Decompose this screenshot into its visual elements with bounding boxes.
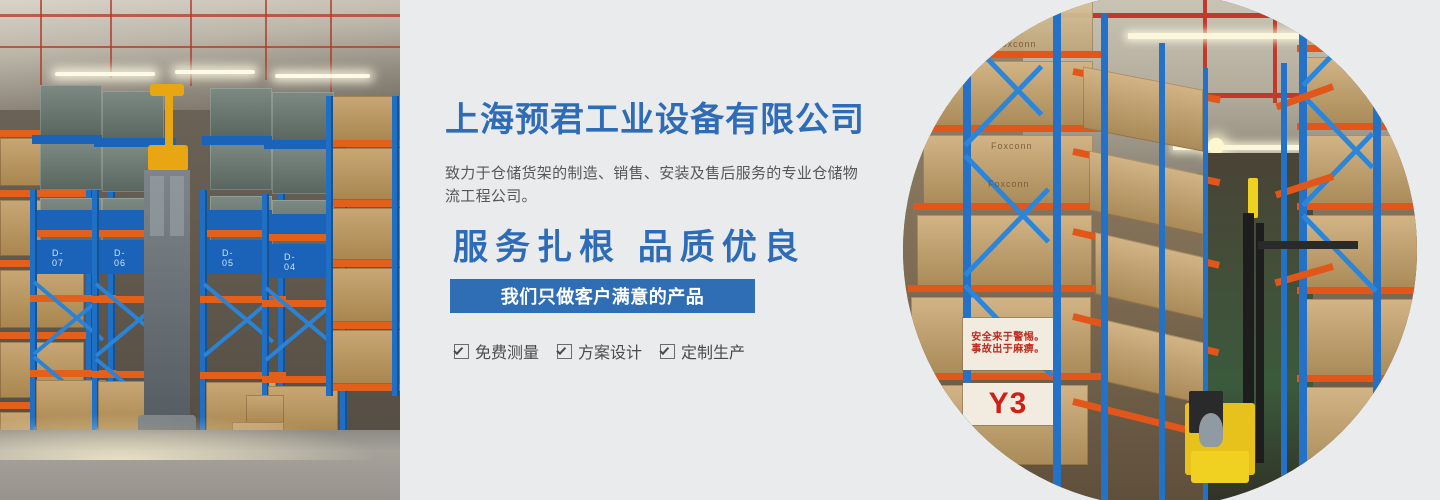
hero-slogan: 服务扎根 品质优良 [453,228,806,268]
forklift-operator [1199,413,1223,447]
feature-label: 定制生产 [681,339,745,363]
carton-brand-text: Foxconn [991,141,1033,151]
feature-item-custom-production: 定制生产 [660,339,745,363]
rack-label: D-04 [284,252,296,272]
safety-sign-line1: 安全来于警惕。 [971,333,1045,343]
check-box-icon [557,344,572,359]
forklift-mast-top [1248,178,1258,218]
vna-carriage [148,145,188,171]
check-box-icon [660,344,675,359]
ceiling-light [275,74,370,78]
carton-brand-text: Foxconn [998,11,1040,21]
ceiling-hanger [330,0,332,92]
ceiling-hanger [40,0,42,90]
company-subtitle: 致力于仓储货架的制造、销售、安装及售后服务的专业仓储物流工程公司。 [445,162,863,208]
left-warehouse-photo: D-07 D-06 [0,0,400,500]
ceiling-hanger [110,0,112,78]
vna-mast-arm [165,92,173,152]
rack-label: D-07 [52,248,64,268]
right-photo-inner: Foxconn Foxconn Foxconn Foxconn [903,0,1440,500]
ceiling-light [1128,33,1308,39]
company-title: 上海预君工业设备有限公司 [445,103,865,137]
aisle-sign-y3-right: Y3 [1388,383,1440,423]
safety-sign-line2: 事故出于麻痹。 [971,345,1045,355]
sprinkler-drop [1273,0,1277,103]
feature-label: 免费测量 [475,339,539,363]
forklift-arm [1258,241,1358,249]
feature-label: 方案设计 [578,339,642,363]
hero-banner: D-07 D-06 [0,0,1440,500]
cta-label: 我们只做客户满意的产品 [501,283,705,309]
feature-list: 免费测量 方案设计 定制生产 [454,339,745,363]
right-warehouse-photo: Foxconn Foxconn Foxconn Foxconn [903,0,1440,500]
carton-brand-text: Foxconn [995,39,1037,49]
ceiling-beam [0,14,400,17]
rack-label: D-05 [222,248,234,268]
forklift-mast [1256,223,1264,463]
carton-brand-text: Foxconn [988,179,1030,189]
cta-button[interactable]: 我们只做客户满意的产品 [450,279,755,313]
high-bay-lamp [1208,138,1224,154]
vna-detail [170,176,184,236]
hero-content: 上海预君工业设备有限公司 致力于仓储货架的制造、销售、安装及售后服务的专业仓储物… [445,0,905,500]
ceiling-light [175,70,255,74]
feature-item-free-measure: 免费测量 [454,339,539,363]
floor-light-glow [0,410,400,460]
ceiling-light [55,72,155,76]
aisle-sign-label: Y3 [989,389,1028,419]
ceiling-beam [0,46,400,48]
forklift-hood [1191,451,1249,483]
aisle-sign-label-right: Y3 [1413,388,1440,418]
aisle-sign-y3: Y3 [963,383,1053,425]
vna-detail [150,176,164,236]
rack-label: D-06 [114,248,126,268]
ceiling-hanger [265,0,267,80]
feature-item-scheme-design: 方案设计 [557,339,642,363]
sprinkler-pipe [1053,13,1440,18]
safety-sign: 安全来于警惕。 事故出于麻痹。 [963,318,1053,370]
check-box-icon [454,344,469,359]
